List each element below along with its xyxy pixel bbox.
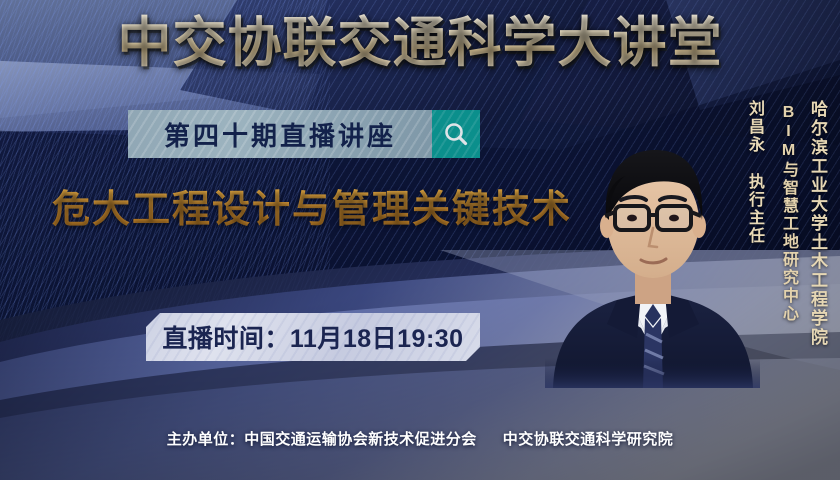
search-icon[interactable] — [432, 110, 480, 158]
main-title: 中交协联交通科学大讲堂 — [0, 14, 840, 72]
lecture-headline: 危大工程设计与管理关键技术 — [52, 188, 572, 232]
speaker-research-center: BIM与智慧工地研究中心 — [776, 104, 800, 323]
broadcast-time-text: 直播时间：11月18日19:30 — [162, 319, 463, 355]
footer-organizer-primary: 主办单位：中国交通运输协会新技术促进分会 — [167, 431, 477, 448]
broadcast-time-badge: 直播时间：11月18日19:30 — [146, 313, 480, 361]
series-band-text: 第四十期直播讲座 — [164, 116, 396, 153]
series-band: 第四十期直播讲座 — [128, 110, 480, 158]
footer-organizers: 主办单位：中国交通运输协会新技术促进分会中交协联交通科学研究院 — [0, 428, 840, 449]
webinar-poster: 中交协联交通科学大讲堂 中交协联交通科学大讲堂 第四十期直播讲座 危大工程设计与… — [0, 0, 840, 480]
speaker-portrait — [545, 88, 760, 388]
footer-organizer-secondary: 中交协联交通科学研究院 — [503, 431, 674, 448]
speaker-organization: 哈尔滨工业大学土木工程学院 — [805, 100, 830, 347]
speaker-name-title: 刘昌永 执行主任 — [742, 100, 766, 245]
series-band-label: 第四十期直播讲座 — [128, 110, 432, 158]
